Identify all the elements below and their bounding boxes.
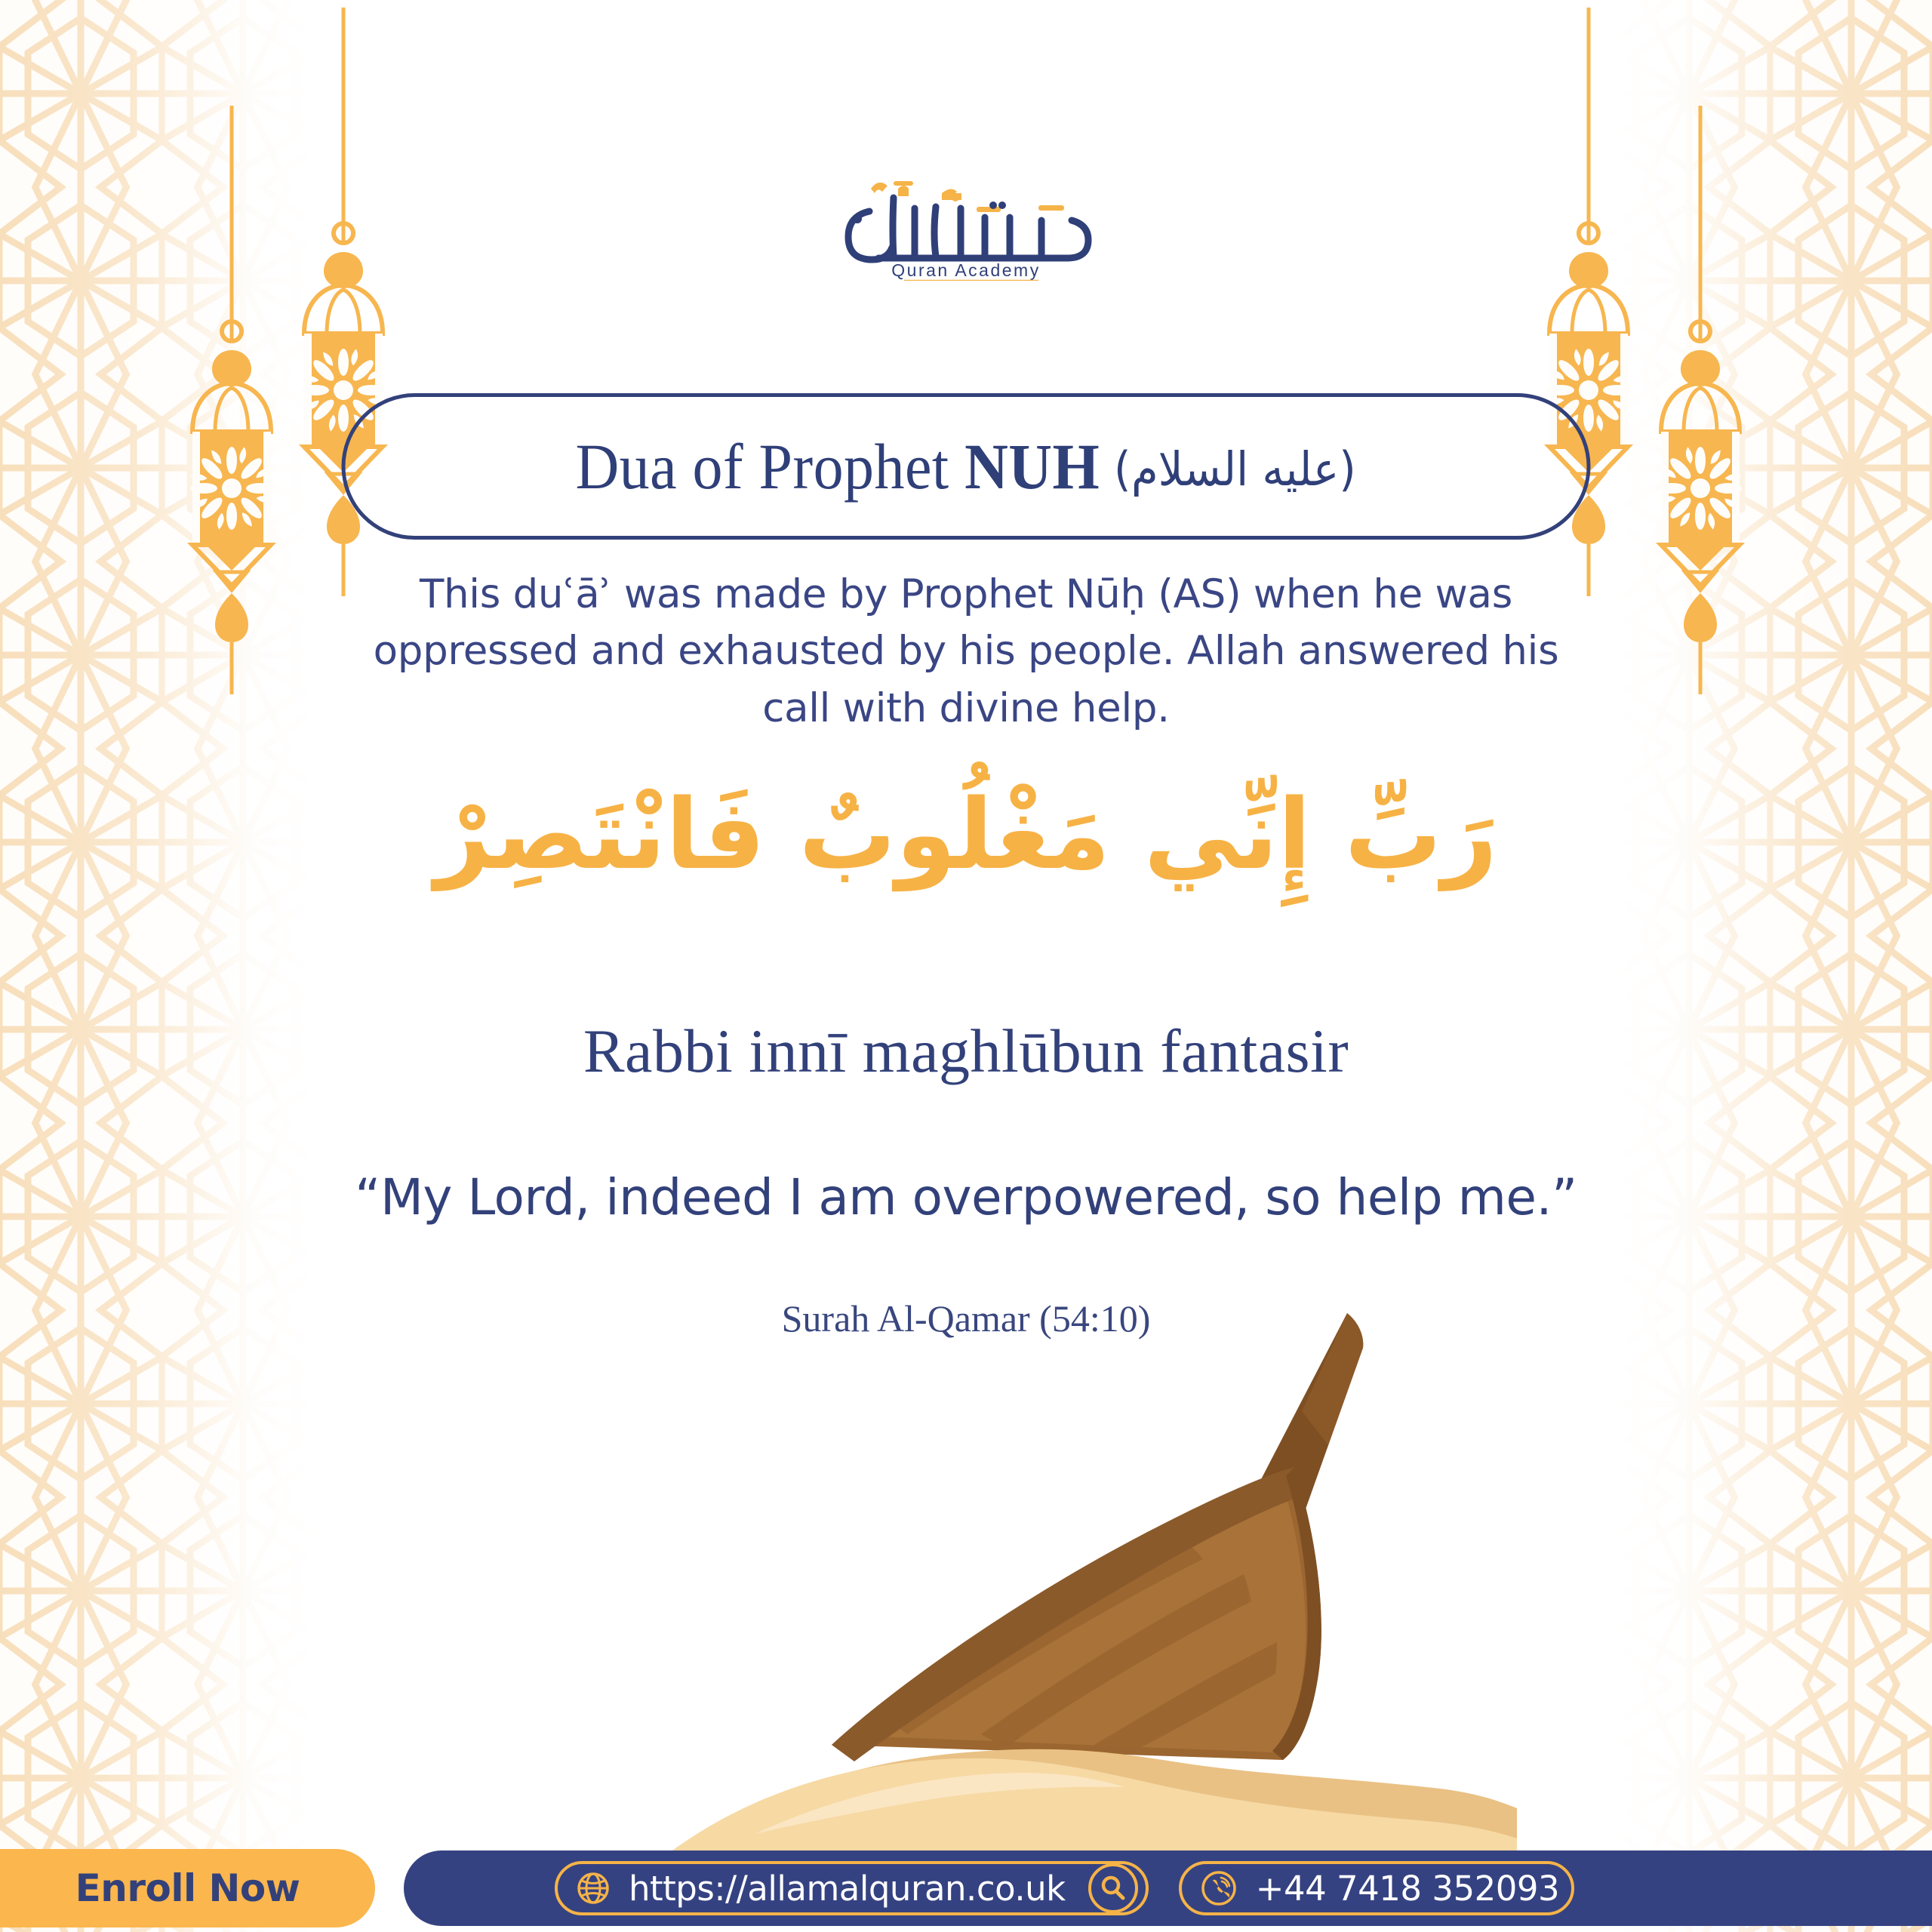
- brand-logo: Quran Academy: [0, 175, 1932, 281]
- poster-canvas: Quran Academy Dua of Prophet NUH (عليه ا…: [0, 0, 1932, 1932]
- globe-icon: [574, 1869, 612, 1907]
- description-text: This duʿāʾ was made by Prophet Nūḥ (AS) …: [347, 566, 1585, 737]
- noahs-ark-illustration: [664, 1298, 1517, 1857]
- phone-icon: [1198, 1868, 1239, 1909]
- enroll-now-button[interactable]: Enroll Now: [0, 1849, 375, 1927]
- phone-number: +44 7418 352093: [1256, 1869, 1559, 1909]
- logo-subtitle: Quran Academy: [891, 260, 1040, 280]
- logo-arabic-calligraphy: Quran Academy: [815, 175, 1117, 281]
- dua-arabic-text: رَبِّ إِنِّي مَغْلُوبٌ فَانْتَصِرْ: [211, 761, 1721, 910]
- phone-pill[interactable]: +44 7418 352093: [1179, 1861, 1574, 1915]
- islamic-geometric-pattern-left: [0, 0, 325, 1932]
- title-honorific: (عليه السلام): [1100, 441, 1356, 497]
- dua-transliteration: Rabbi innī maghlūbun fantasir: [174, 1016, 1758, 1087]
- title-prefix: Dua of Prophet: [576, 430, 965, 503]
- footer-bar: Enroll Now https://allamalquran.co.uk: [0, 1847, 1932, 1932]
- website-url: https://allamalquran.co.uk: [629, 1869, 1066, 1909]
- dua-reference: Surah Al-Qamar (54:10): [174, 1297, 1758, 1340]
- background-fade-overlay: [0, 0, 1932, 1932]
- title-pill: Dua of Prophet NUH (عليه السلام): [342, 393, 1591, 540]
- search-icon: [1098, 1873, 1128, 1903]
- title-prophet-name: NUH: [964, 430, 1100, 503]
- search-button[interactable]: [1088, 1863, 1138, 1913]
- contact-bar: https://allamalquran.co.uk +44 7418 3520…: [404, 1850, 1932, 1926]
- dua-translation: “My Lord, indeed I am overpowered, so he…: [174, 1168, 1758, 1226]
- page-title: Dua of Prophet NUH (عليه السلام): [576, 434, 1357, 499]
- islamic-geometric-pattern-right: [1607, 0, 1932, 1932]
- website-pill[interactable]: https://allamalquran.co.uk: [555, 1861, 1149, 1915]
- enroll-now-label: Enroll Now: [75, 1866, 300, 1910]
